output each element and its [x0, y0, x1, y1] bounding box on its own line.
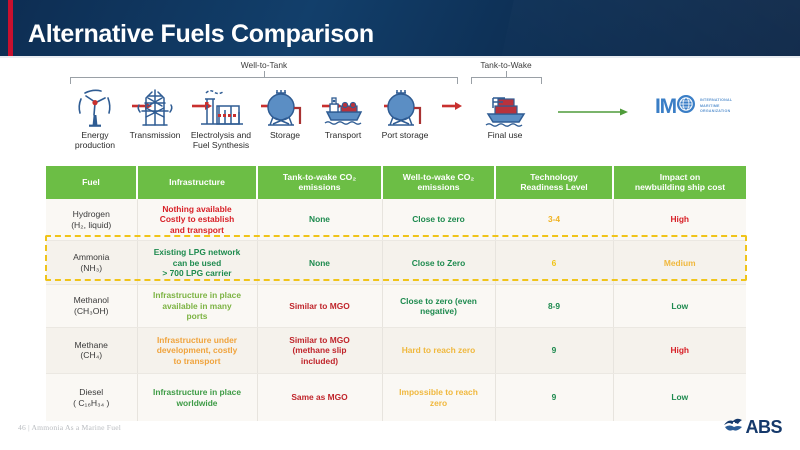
column-header-trl: Technology Readiness Level [495, 166, 613, 199]
wtw-text: Close to Zero [412, 258, 466, 268]
cell-infrastructure: Infrastructure under development, costly… [137, 327, 257, 373]
table-row: Methanol (CH₃OH) Infrastructure in place… [46, 285, 746, 328]
cell-fuel: Hydrogen (H₂, liquid) [46, 199, 137, 241]
trl-text: 9 [552, 345, 557, 355]
cell-cost-impact: Medium [613, 241, 746, 285]
infrastructure-text: Nothing available Costly to establish an… [160, 204, 234, 235]
cell-infrastructure: Nothing available Costly to establish an… [137, 199, 257, 241]
column-header-fuel: Fuel [46, 166, 137, 199]
label-line-2: production [58, 141, 132, 151]
label-line-2: Fuel Synthesis [178, 141, 264, 151]
header-divider [0, 56, 800, 58]
cell-fuel: Ammonia (NH₃) [46, 241, 137, 285]
fuel-formula: ( C₁₆H₃₄ ) [50, 398, 133, 409]
slide-header: Alternative Fuels Comparison [0, 0, 800, 58]
cell-well-to-wake: Hard to reach zero [382, 327, 495, 373]
column-header-tank-to-wake: Tank-to-wake CO₂ emissions [257, 166, 382, 199]
trl-text: 3-4 [548, 214, 560, 224]
fuel-formula: (CH₄) [50, 350, 133, 361]
abs-wordmark: ABS [745, 417, 782, 438]
bracket-tank-to-wake [471, 77, 542, 84]
cost-text: High [670, 345, 689, 355]
wtw-text: Impossible to reach zero [399, 387, 478, 408]
column-header-cost-impact: Impact on newbuilding ship cost [613, 166, 746, 199]
imo-subtext-line-1: INTERNATIONAL [700, 98, 732, 104]
cell-fuel: Methanol (CH₃OH) [46, 285, 137, 328]
wtw-text: Close to zero [412, 214, 465, 224]
cell-trl: 8-9 [495, 285, 613, 328]
cell-tank-to-wake: Similar to MGO [257, 285, 382, 328]
slide: Alternative Fuels Comparison Well-to-Tan… [0, 0, 800, 450]
cell-well-to-wake: Close to zero (even negative) [382, 285, 495, 328]
imo-subtext: INTERNATIONAL MARITIME ORGANIZATION [700, 98, 732, 115]
ttw-text: Similar to MGO (methane slip included) [289, 335, 350, 366]
abs-logo: ABS [722, 416, 782, 439]
cost-text: High [670, 214, 689, 224]
fuel-name: Methane [50, 340, 133, 351]
header-line-2: newbuilding ship cost [617, 182, 743, 192]
cell-infrastructure: Infrastructure in place available in man… [137, 285, 257, 328]
cost-text: Low [671, 301, 688, 311]
imo-logo: IM INTERNATIONAL MARITIME ORGANIZATION [655, 94, 732, 119]
imo-globe-icon [676, 94, 696, 119]
cell-fuel: Methane (CH₄) [46, 327, 137, 373]
imo-wordmark: IM [655, 95, 676, 119]
cell-well-to-wake: Impossible to reach zero [382, 373, 495, 421]
ttw-text: Similar to MGO [289, 301, 350, 311]
fuel-formula: (CH₃OH) [50, 306, 133, 317]
cell-cost-impact: Low [613, 373, 746, 421]
header-line-2: emissions [386, 182, 491, 192]
bracket-label-tank-to-wake: Tank-to-Wake [436, 60, 576, 70]
trl-text: 6 [552, 258, 557, 268]
trl-text: 8-9 [548, 301, 560, 311]
green-arrow [558, 104, 630, 122]
cell-cost-impact: High [613, 199, 746, 241]
cell-cost-impact: High [613, 327, 746, 373]
label-line-1: Port storage [368, 131, 442, 141]
bracket-label-well-to-tank: Well-to-Tank [194, 60, 334, 70]
page-title: Alternative Fuels Comparison [28, 20, 374, 49]
stage-label-port-storage: Port storage [368, 131, 442, 141]
table-row: Methane (CH₄) Infrastructure under devel… [46, 327, 746, 373]
cell-tank-to-wake: Similar to MGO (methane slip included) [257, 327, 382, 373]
fuel-name: Diesel [50, 387, 133, 398]
cell-infrastructure: Infrastructure in place worldwide [137, 373, 257, 421]
header-accent-bar [8, 0, 13, 58]
fuel-name: Ammonia [50, 252, 133, 263]
bracket-well-to-tank [70, 77, 458, 84]
infrastructure-text: Existing LPG network can be used > 700 L… [154, 247, 241, 278]
flow-arrow-6 [442, 98, 464, 116]
wtw-text: Hard to reach zero [402, 345, 476, 355]
table-body: Hydrogen (H₂, liquid) Nothing available … [46, 199, 746, 422]
stage-final-use: Final use [468, 84, 542, 141]
fuels-comparison-table: Fuel Infrastructure Tank-to-wake CO₂ emi… [46, 166, 746, 421]
header-line-1: Well-to-wake CO₂ [386, 172, 491, 182]
cell-trl: 9 [495, 373, 613, 421]
cell-fuel: Diesel ( C₁₆H₃₄ ) [46, 373, 137, 421]
header-line-2: Readiness Level [499, 182, 609, 192]
footer-page-label: 46 | Ammonia As a Marine Fuel [18, 423, 121, 432]
trl-text: 9 [552, 392, 557, 402]
ttw-text: None [309, 258, 330, 268]
header-line-2: emissions [261, 182, 378, 192]
fuel-formula: (NH₃) [50, 263, 133, 274]
fuel-name: Methanol [50, 295, 133, 306]
cell-trl: 9 [495, 327, 613, 373]
infrastructure-text: Infrastructure under development, costly… [157, 335, 238, 366]
cost-text: Low [671, 392, 688, 402]
cell-trl: 6 [495, 241, 613, 285]
fuel-name: Hydrogen [50, 209, 133, 220]
header-line-1: Impact on [617, 172, 743, 182]
comparison-table: Fuel Infrastructure Tank-to-wake CO₂ emi… [46, 166, 746, 421]
infrastructure-text: Infrastructure in place available in man… [153, 290, 241, 321]
imo-subtext-line-3: ORGANIZATION [700, 109, 732, 115]
header-line-1: Technology [499, 172, 609, 182]
ttw-text: Same as MGO [291, 392, 347, 402]
cell-infrastructure: Existing LPG network can be used > 700 L… [137, 241, 257, 285]
table-row: Ammonia (NH₃) Existing LPG network can b… [46, 241, 746, 285]
wtw-text: Close to zero (even negative) [400, 296, 477, 317]
cell-tank-to-wake: Same as MGO [257, 373, 382, 421]
cell-tank-to-wake: None [257, 199, 382, 241]
label-line-1: Final use [468, 131, 542, 141]
table-row: Hydrogen (H₂, liquid) Nothing available … [46, 199, 746, 241]
column-header-infrastructure: Infrastructure [137, 166, 257, 199]
abs-eagle-icon [722, 416, 744, 439]
cell-tank-to-wake: None [257, 241, 382, 285]
process-flow-diagram: Well-to-Tank Tank-to-Wake Energy [0, 58, 800, 158]
cost-text: Medium [664, 258, 696, 268]
cell-well-to-wake: Close to zero [382, 199, 495, 241]
column-header-well-to-wake: Well-to-wake CO₂ emissions [382, 166, 495, 199]
table-row: Diesel ( C₁₆H₃₄ ) Infrastructure in plac… [46, 373, 746, 421]
infrastructure-text: Infrastructure in place worldwide [153, 387, 241, 408]
storage-tank-icon [368, 84, 442, 128]
table-header-row: Fuel Infrastructure Tank-to-wake CO₂ emi… [46, 166, 746, 199]
table-head: Fuel Infrastructure Tank-to-wake CO₂ emi… [46, 166, 746, 199]
cell-trl: 3-4 [495, 199, 613, 241]
header-line-1: Tank-to-wake CO₂ [261, 172, 378, 182]
fuel-formula: (H₂, liquid) [50, 220, 133, 231]
header-line-1: Infrastructure [141, 177, 253, 187]
header-line-1: Fuel [49, 177, 133, 187]
cell-cost-impact: Low [613, 285, 746, 328]
stage-label-final-use: Final use [468, 131, 542, 141]
cell-well-to-wake: Close to Zero [382, 241, 495, 285]
ttw-text: None [309, 214, 330, 224]
stage-port-storage: Port storage [368, 84, 442, 141]
container-ship-icon [468, 84, 542, 128]
